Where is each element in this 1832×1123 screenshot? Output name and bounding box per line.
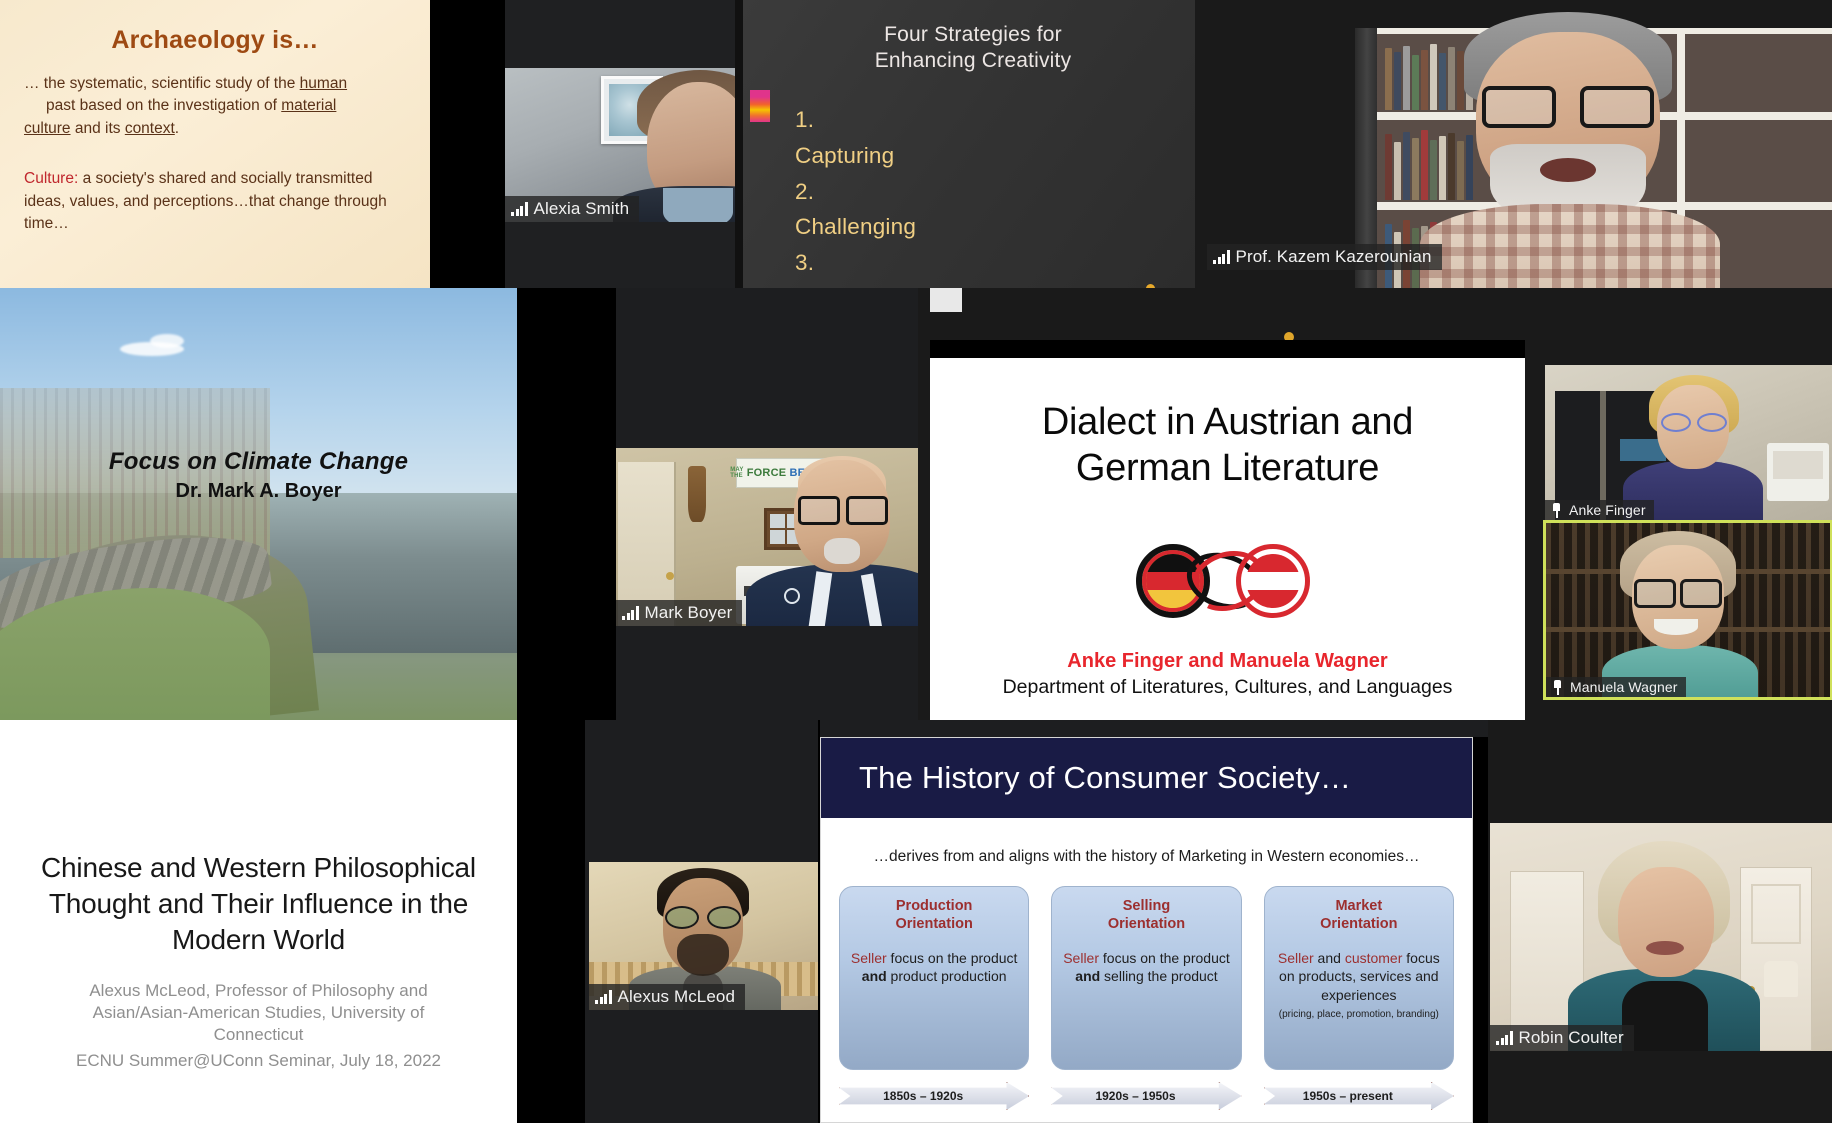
chinese-title-line2: Thought and Their Influence in the [49,888,468,919]
consumer-slide-header: The History of Consumer Society… [821,738,1472,818]
box-body-post: product production [887,968,1007,984]
box-title: Selling Orientation [1060,897,1232,933]
climate-presenter: Dr. Mark A. Boyer [0,480,517,503]
cloud-shape-2 [150,334,184,348]
signal-bars-icon [595,990,612,1004]
item-label: Challenging [795,209,920,245]
culture-label: Culture: [24,170,78,187]
hanging-coat [688,466,706,522]
list-item: 2.Challenging [795,174,920,246]
signal-bars-icon [622,606,639,620]
avatar-inner-top [1622,981,1708,1051]
orientation-box-selling: Selling Orientation Seller focus on the … [1051,886,1241,1070]
dialect-authors: Anke Finger and Manuela Wagner [930,650,1525,673]
avatar-person [1412,8,1722,288]
box-body-fineprint: (pricing, place, promotion, branding) [1273,1008,1445,1021]
shared-slide-climate-change[interactable]: Focus on Climate Change Dr. Mark A. Boye… [0,288,517,720]
avatar-plaid-shirt [1420,204,1720,288]
box-body-seller: Seller [1063,950,1099,966]
box-body-seller: Seller [851,950,887,966]
dialect-department: Department of Literatures, Cultures, and… [930,676,1525,699]
box-body: Seller and customer focus on products, s… [1273,949,1445,1021]
box-body-customer: customer [1345,950,1403,966]
letterbox-left-alexia [430,0,505,288]
shared-slide-archaeology[interactable]: Archaeology is… … the systematic, scient… [0,0,430,288]
arch-text-c: and its [71,120,125,137]
name-badge-mark-boyer: Mark Boyer [616,600,742,626]
creativity-strategy-list: 1.Capturing 2.Challenging 3.Broadening 4… [795,102,920,298]
avatar-glasses [1482,86,1654,122]
item-number: 1. [795,102,827,138]
jacket-logo [784,588,800,604]
participant-name: Robin Coulter [1519,1028,1624,1048]
archaeology-slide-content: Archaeology is… … the systematic, scient… [0,0,430,236]
gap-filler-right [1473,737,1488,1123]
zoom-gallery-mosaic: Archaeology is… … the systematic, scient… [0,0,1832,1123]
timeline-label: 1950s – present [1303,1089,1415,1103]
shared-slide-consumer-society[interactable]: The History of Consumer Society… …derive… [820,737,1473,1123]
window-tab-stub[interactable] [930,288,962,312]
avatar-beard [677,934,729,976]
signal-bars-icon [511,202,528,216]
video-tile-alexus-mcleod[interactable]: Alexus McLeod [589,862,818,1010]
avatar-mouth [1540,158,1596,182]
participant-name: Anke Finger [1569,502,1646,518]
arch-underline-context: context [125,120,175,137]
box-body-post: selling the product [1100,968,1218,984]
climate-title: Focus on Climate Change [0,448,517,476]
timeline-label: 1920s – 1950s [1095,1089,1197,1103]
name-badge-anke-finger: Anke Finger [1545,500,1654,520]
table-lamp [1764,961,1798,997]
archaeology-culture-block: Culture: a society's shared and socially… [24,168,406,235]
box-body-seller: Seller [1278,950,1314,966]
item-number: 2. [795,174,827,210]
item-number: 3. [795,245,827,281]
powerpoint-window[interactable]: Four Strategies for Enhancing Creativity… [743,0,1195,298]
pin-icon [1551,680,1564,695]
chinese-title-line3: Modern World [172,924,345,955]
chinese-slide-title: Chinese and Western Philosophical Though… [30,850,487,957]
box-title-line1: Selling [1123,898,1171,914]
chinese-sub-line2: Asian/Asian-American Studies, University… [93,1003,425,1022]
austrian-flag-icon [1246,554,1300,608]
orientation-box-production: Production Orientation Seller focus on t… [839,886,1029,1070]
slide-accent-stripe-left [750,90,770,122]
participant-name: Mark Boyer [645,603,733,623]
chinese-slide-subtitle: Alexus McLeod, Professor of Philosophy a… [50,980,467,1072]
shared-slide-chinese-philosophy[interactable]: Chinese and Western Philosophical Though… [0,720,517,1123]
arch-text-a: … the systematic, scientific study of th… [24,75,300,92]
chinese-sub-line4: ECNU Summer@UConn Seminar, July 18, 2022 [50,1050,467,1072]
shared-slide-dialect[interactable]: Dialect in Austrian and German Literatur… [930,358,1525,720]
avatar-mouth [1646,941,1684,955]
box-body-mid: and [1314,950,1345,966]
slide-top-letterbox [930,340,1525,358]
office-printer [1767,443,1829,501]
signal-bars-icon [1213,250,1230,264]
box-body: Seller focus on the product and selling … [1060,949,1232,985]
chinese-sub-line1: Alexus McLeod, Professor of Philosophy a… [89,981,427,1000]
creativity-title-line2: Enhancing Creativity [875,49,1072,72]
chinese-sub-line3: Connecticut [214,1025,304,1044]
box-title-line2: Orientation [1320,916,1397,932]
box-title-line2: Orientation [895,916,972,932]
box-title-line1: Market [1335,898,1382,914]
slide-canvas-creativity: Four Strategies for Enhancing Creativity… [743,0,1195,292]
box-body-and: and [862,968,887,984]
door-knob-icon [666,572,674,580]
pin-icon [1550,503,1563,518]
list-item: 1.Capturing [795,102,920,174]
timeline-arrow-row: 1850s – 1920s 1920s – 1950s 1950s – pres… [839,1082,1454,1110]
box-title-line1: Production [896,898,973,914]
avatar-glasses [665,906,741,926]
sign-text-may-the: MAY THE [730,467,743,479]
orientation-box-market: Market Orientation Seller and customer f… [1264,886,1454,1070]
archaeology-title: Archaeology is… [24,26,406,55]
creativity-title-line1: Four Strategies for [884,23,1062,46]
arch-text-d: . [175,120,179,137]
consumer-subtitle: …derives from and aligns with the histor… [845,848,1448,866]
participant-name: Manuela Wagner [1570,679,1678,695]
participant-name: Prof. Kazem Kazerounian [1236,247,1432,267]
avatar-collar [663,188,733,222]
box-body-mid: focus on the product [887,950,1018,966]
timeline-arrow-1: 1850s – 1920s [839,1082,1029,1110]
name-badge-alexus-mcleod: Alexus McLeod [589,984,745,1010]
video-tile-mark-boyer[interactable]: MAY THE FORCE BEWITH YOU Mark Boyer [616,448,918,626]
arch-underline-material: material [281,97,336,114]
gap-filler-left [818,720,820,1123]
video-tile-kazem-kazerounian[interactable]: Prof. Kazem Kazerounian [1195,0,1832,288]
letterbox-left-mcleod [517,720,585,1123]
chinese-title-line1: Chinese and Western Philosophical [41,852,476,883]
participant-name: Alexia Smith [534,199,630,219]
video-tile-manuela-wagner[interactable]: Manuela Wagner [1543,520,1832,700]
shared-slide-creativity[interactable]: Four Strategies for Enhancing Creativity… [735,0,1195,298]
box-body: Seller focus on the product and product … [848,949,1020,985]
avatar-glasses [1661,413,1727,429]
timeline-arrow-3: 1950s – present [1264,1082,1454,1110]
box-title: Market Orientation [1273,897,1445,933]
dialect-title-line1: Dialect in Austrian and [1042,401,1413,443]
letterbox-left-boyer [517,288,616,720]
video-tile-anke-finger[interactable]: Anke Finger [1545,365,1832,520]
box-body-mid: focus on the product [1099,950,1230,966]
avatar-goatee [824,538,860,564]
name-badge-manuela-wagner: Manuela Wagner [1546,677,1686,697]
climate-caption-block: Focus on Climate Change Dr. Mark A. Boye… [0,448,517,503]
arch-underline-human: human [300,75,347,92]
timeline-arrow-2: 1920s – 1950s [1051,1082,1241,1110]
culture-text: a society's shared and socially transmit… [24,170,387,232]
avatar-mouth [1654,619,1698,635]
box-body-and: and [1075,968,1100,984]
creativity-title: Four Strategies for Enhancing Creativity [743,22,1195,73]
sign-text-force: FORCE [747,467,787,479]
participant-name: Alexus McLeod [618,987,736,1007]
orientation-box-row: Production Orientation Seller focus on t… [839,886,1454,1070]
consumer-header-text: The History of Consumer Society… [859,760,1351,796]
arch-text-b: past based on the investigation of [46,97,281,114]
dialect-title: Dialect in Austrian and German Literatur… [930,400,1525,491]
timeline-label: 1850s – 1920s [883,1089,985,1103]
box-title-line2: Orientation [1108,916,1185,932]
item-label: Capturing [795,138,920,174]
infinity-flags-logo [1128,538,1328,624]
name-badge-kazem-kazerounian: Prof. Kazem Kazerounian [1207,244,1442,270]
dialect-title-line2: German Literature [1076,447,1379,489]
name-badge-alexia-smith: Alexia Smith [505,196,639,222]
arch-underline-culture: culture [24,120,71,137]
austrian-flag-loop [1228,538,1328,624]
avatar-face [1618,867,1714,977]
name-badge-robin-coulter: Robin Coulter [1490,1025,1634,1051]
avatar-glasses [798,496,888,520]
archaeology-definition: … the systematic, scientific study of th… [24,73,406,140]
video-tile-alexia-smith[interactable]: Alexia Smith [505,68,735,222]
avatar-glasses [1634,579,1722,603]
box-title: Production Orientation [848,897,1020,933]
signal-bars-icon [1496,1031,1513,1045]
video-tile-robin-coulter[interactable]: Robin Coulter [1490,823,1832,1051]
slide-grass [0,588,270,720]
